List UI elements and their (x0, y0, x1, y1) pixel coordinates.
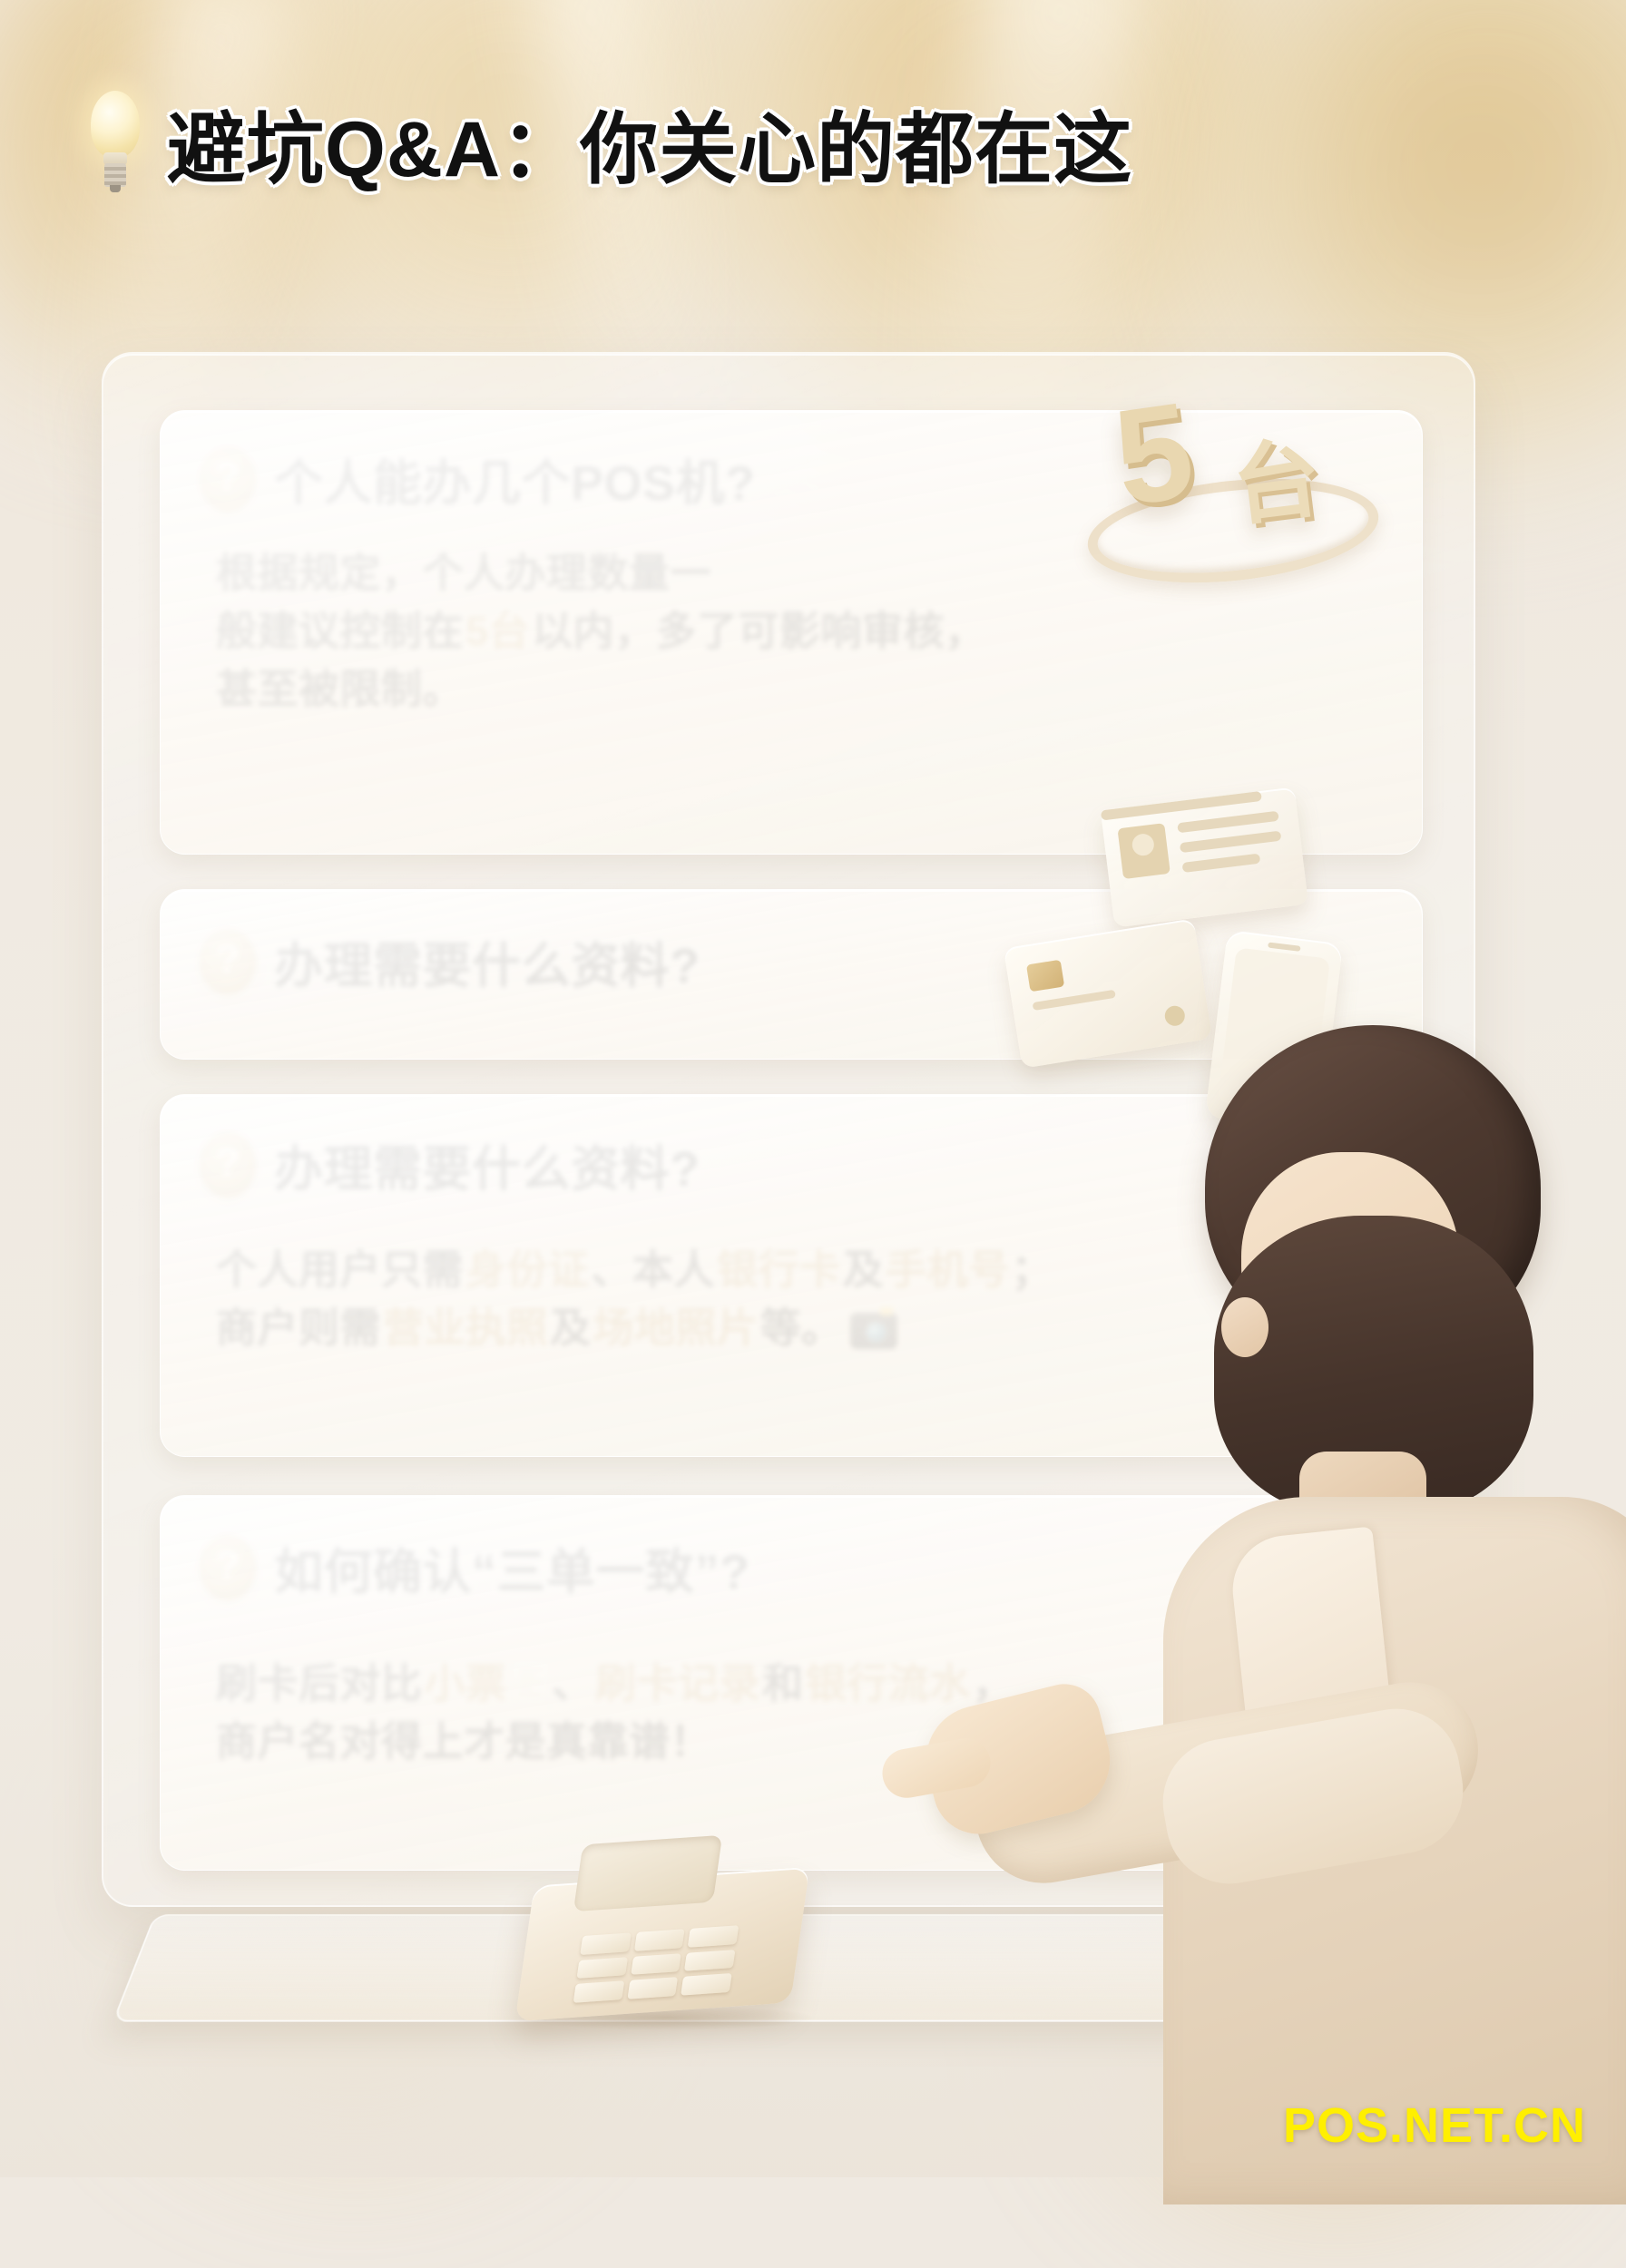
woman-figure-illustration (1027, 1025, 1626, 2195)
five-units-unit: 台 (1225, 407, 1327, 543)
lightbulb-icon (82, 89, 147, 194)
page-title: 避坑Q&A：你关心的都在这 (167, 85, 1132, 199)
terminal-keypad (573, 1925, 740, 2003)
terminal-screen (573, 1835, 722, 1911)
watermark: POS.NET.CN (1283, 2097, 1586, 2154)
page-header: 避坑Q&A：你关心的都在这 (82, 83, 1152, 200)
ear (1221, 1297, 1268, 1357)
five-units-3d-icon: 5 台 (1080, 379, 1379, 588)
id-card-icon (1101, 787, 1308, 927)
pos-terminal-illustration (508, 1823, 844, 2032)
